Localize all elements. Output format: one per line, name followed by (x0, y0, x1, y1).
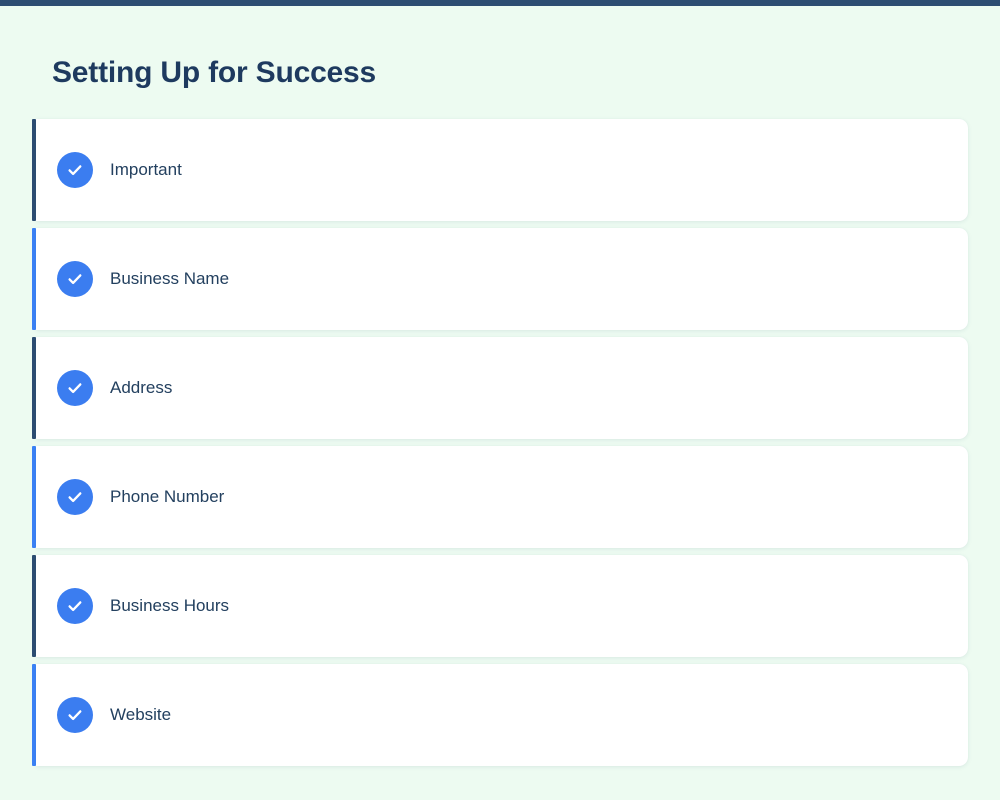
list-item[interactable]: Website (32, 664, 968, 766)
checklist-item-label: Phone Number (110, 486, 224, 508)
checklist: Important Business Name Address (32, 119, 968, 773)
list-item[interactable]: Business Name (32, 228, 968, 330)
check-circle-icon (57, 588, 93, 624)
check-circle-icon (57, 370, 93, 406)
check-circle-icon (57, 697, 93, 733)
list-item[interactable]: Phone Number (32, 446, 968, 548)
list-item[interactable]: Important (32, 119, 968, 221)
checklist-card[interactable]: Business Hours (36, 555, 968, 657)
checklist-card[interactable]: Business Name (36, 228, 968, 330)
checklist-item-label: Address (110, 377, 172, 399)
check-circle-icon (57, 152, 93, 188)
checklist-card[interactable]: Website (36, 664, 968, 766)
checklist-item-label: Important (110, 159, 182, 181)
check-circle-icon (57, 479, 93, 515)
checklist-item-label: Website (110, 704, 171, 726)
checklist-card[interactable]: Address (36, 337, 968, 439)
top-accent-bar (0, 0, 1000, 6)
checklist-item-label: Business Name (110, 268, 229, 290)
page-title: Setting Up for Success (52, 53, 376, 93)
checklist-card[interactable]: Phone Number (36, 446, 968, 548)
checklist-item-label: Business Hours (110, 595, 229, 617)
list-item[interactable]: Business Hours (32, 555, 968, 657)
check-circle-icon (57, 261, 93, 297)
list-item[interactable]: Address (32, 337, 968, 439)
checklist-card[interactable]: Important (36, 119, 968, 221)
